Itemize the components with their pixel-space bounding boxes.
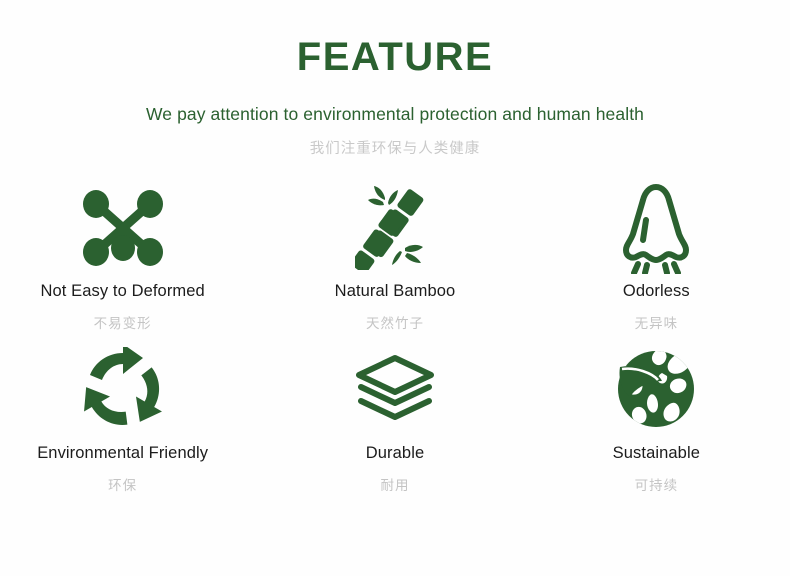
globe-leaf-icon [614,340,698,438]
recycle-arrows-icon [81,340,165,438]
feature-item-not-easy-to-deformed: Not Easy to Deformed 不易变形 [0,180,254,334]
nose-icon [620,180,692,276]
feature-label-cn: 无异味 [635,312,679,332]
section-header: FEATURE We pay attention to environmenta… [0,0,790,158]
feature-item-durable: Durable 耐用 [263,340,526,494]
page-title: FEATURE [0,36,790,78]
feature-item-environmental-friendly: Environmental Friendly 环保 [0,340,254,494]
section-subtitle-cn: 我们注重环保与人类健康 [0,137,790,158]
molecule-nodes-icon [80,180,166,276]
section-subtitle-en: We pay attention to environmental protec… [0,104,790,125]
feature-label-cn: 可持续 [635,474,679,494]
feature-label-en: Durable [366,444,424,463]
feature-label-cn: 天然竹子 [366,312,424,332]
feature-grid: Not Easy to Deformed 不易变形 [0,180,790,494]
feature-label-cn: 耐用 [380,474,409,494]
feature-label-en: Odorless [623,282,690,301]
bamboo-stalks-icon [355,180,435,276]
feature-label-cn: 环保 [108,474,137,494]
feature-label-en: Natural Bamboo [335,282,456,301]
feature-item-natural-bamboo: Natural Bamboo 天然竹子 [263,180,526,334]
feature-label-en: Environmental Friendly [37,444,208,463]
feature-section: FEATURE We pay attention to environmenta… [0,0,790,576]
feature-label-en: Not Easy to Deformed [41,282,205,301]
feature-item-sustainable: Sustainable 可持续 [525,340,788,494]
feature-label-en: Sustainable [613,444,700,463]
feature-label-cn: 不易变形 [94,312,152,332]
layers-stack-icon [353,340,437,438]
feature-item-odorless: Odorless 无异味 [525,180,788,334]
